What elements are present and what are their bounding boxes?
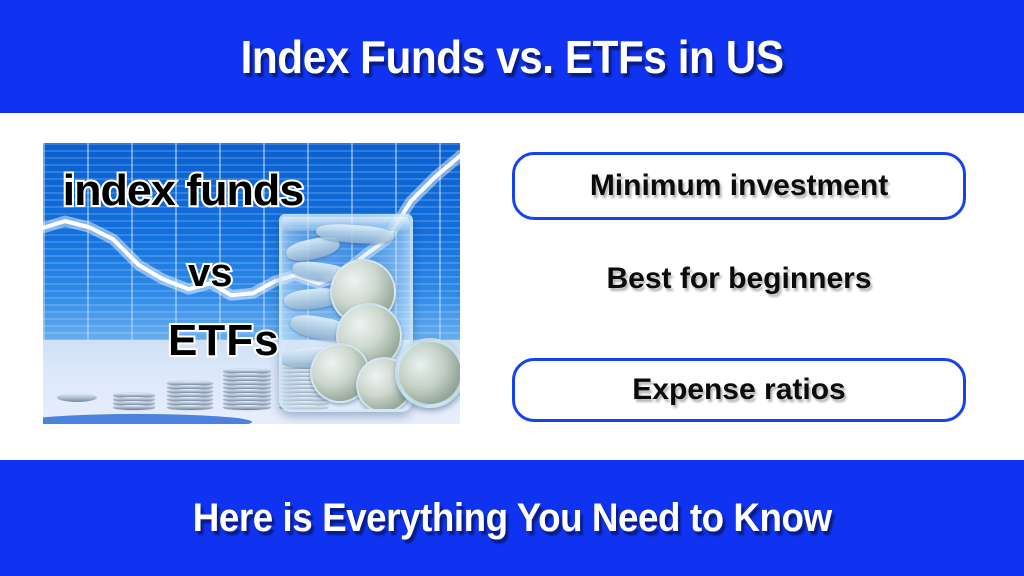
list-item-minimum-investment[interactable]: Minimum investment [512,152,966,220]
coin-stack [113,394,155,410]
footer-title: Here is Everything You Need to Know [193,498,832,538]
list-item-expense-ratios[interactable]: Expense ratios [512,358,966,422]
page-title: Index Funds vs. ETFs in US [240,34,783,80]
list-item-best-for-beginners[interactable]: Best for beginners [512,250,966,308]
footer-banner: Here is Everything You Need to Know [0,460,1024,576]
comparison-list: Minimum investment Best for beginners Ex… [512,143,966,424]
overlay-text-index-funds: index funds [63,169,304,213]
overlay-text-etfs: ETFs [168,319,280,363]
overlay-text-vs: vs [188,253,233,293]
list-item-label: Best for beginners [606,264,871,294]
slide-canvas: Index Funds vs. ETFs in US [0,0,1024,576]
illustration-image: index funds vs ETFs [43,143,460,424]
coin-stack [167,382,213,410]
coin-jar [279,214,413,412]
header-banner: Index Funds vs. ETFs in US [0,0,1024,113]
coin-stack [223,370,271,410]
coin-single [57,393,97,402]
list-item-label: Minimum investment [590,171,888,201]
list-item-label: Expense ratios [632,375,845,405]
